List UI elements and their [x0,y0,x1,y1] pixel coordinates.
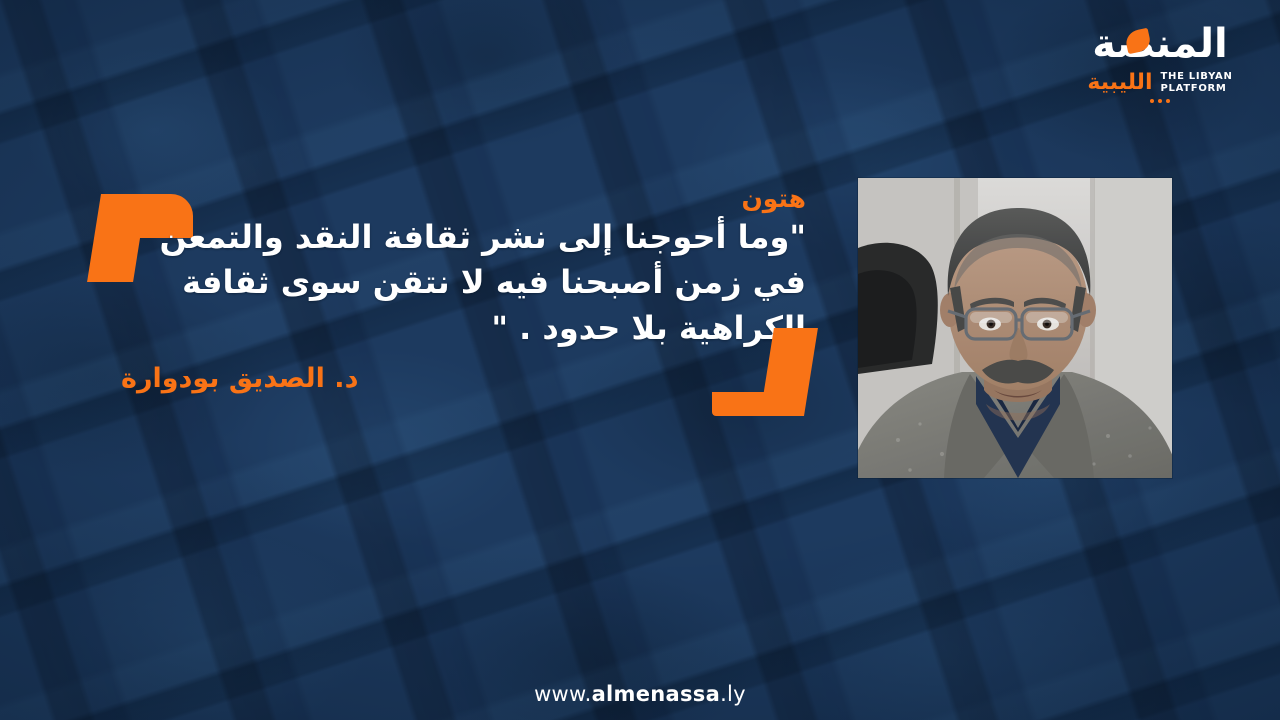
logo-dot [1166,99,1170,103]
quote-line-3: الكراهية بلا حدود . " [146,306,806,351]
quote-text: هتون "وما أحوجنا إلى نشر ثقافة النقد وال… [146,185,806,351]
logo-english-text: THE LIBYAN PLATFORM [1161,71,1233,95]
logo-arabic-subtitle: الليبية [1087,72,1152,94]
logo-dot [1158,99,1162,103]
logo-dots-decoration [1140,99,1180,103]
quote-card: المنصة الليبية THE LIBYAN PLATFORM هتون … [0,0,1280,720]
quote-line-1: "وما أحوجنا إلى نشر ثقافة النقد والتمعن [146,215,806,260]
footer-url[interactable]: www.almenassa.ly [0,682,1280,706]
logo-english-line2: PLATFORM [1161,83,1233,95]
portrait-photo [858,178,1172,478]
logo-subtitle-row: الليبية THE LIBYAN PLATFORM [1070,71,1250,95]
quote-attribution: د. الصديق بودوارة [121,363,358,394]
quote-block: هتون "وما أحوجنا إلى نشر ثقافة النقد وال… [96,185,812,420]
footer-url-suffix: .ly [720,682,746,706]
quote-tag: هتون [146,185,806,213]
quote-bracket-close-icon [712,328,804,416]
footer-url-name: almenassa [592,682,721,706]
bracket-close-arm [712,392,792,416]
logo-english-line1: THE LIBYAN [1161,71,1233,83]
logo-arabic-title: المنصة [1070,24,1250,68]
logo-dot [1150,99,1154,103]
footer-url-prefix: www. [534,682,591,706]
quote-line-2: في زمن أصبحنا فيه لا نتقن سوى ثقافة [146,260,806,305]
brand-logo: المنصة الليبية THE LIBYAN PLATFORM [1070,24,1250,103]
